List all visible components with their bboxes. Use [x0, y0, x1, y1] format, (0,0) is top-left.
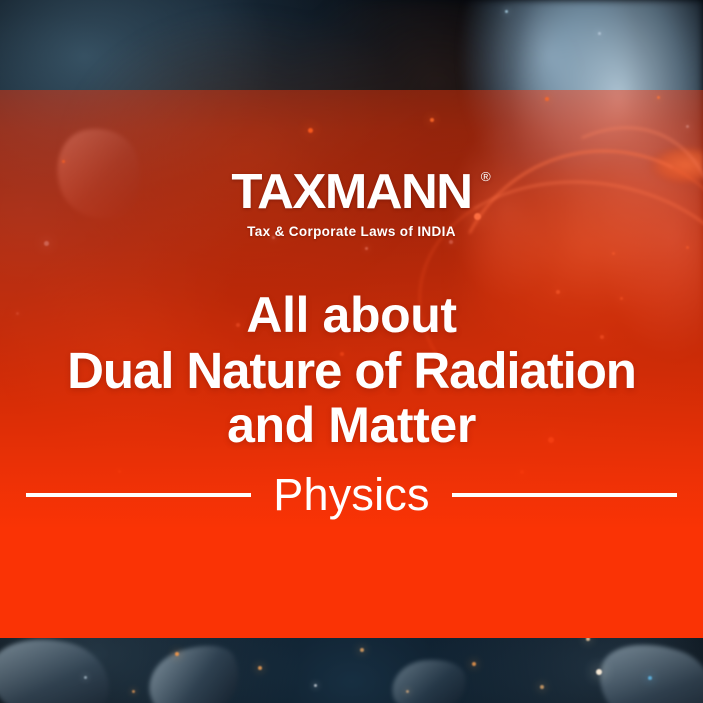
taxmann-logo[interactable]: TAXMANN® Tax & Corporate Laws of INDIA	[0, 168, 703, 239]
banner-content: TAXMANN® Tax & Corporate Laws of INDIA A…	[0, 0, 703, 703]
logo-wordmark-text: TAXMANN	[231, 165, 471, 219]
divider-rule-right	[452, 493, 677, 497]
subject-label: Physics	[273, 470, 429, 520]
title-line-2: Dual Nature of Radiation	[0, 343, 703, 398]
subject-row: Physics	[0, 470, 703, 520]
logo-tagline: Tax & Corporate Laws of INDIA	[0, 224, 703, 239]
title-line-3: and Matter	[0, 398, 703, 453]
divider-rule-left	[26, 493, 251, 497]
logo-wordmark: TAXMANN®	[231, 168, 471, 217]
page-title: All about Dual Nature of Radiation and M…	[0, 288, 703, 453]
title-line-1: All about	[0, 288, 703, 343]
article-banner: TAXMANN® Tax & Corporate Laws of INDIA A…	[0, 0, 703, 703]
registered-trademark-icon: ®	[481, 170, 489, 183]
